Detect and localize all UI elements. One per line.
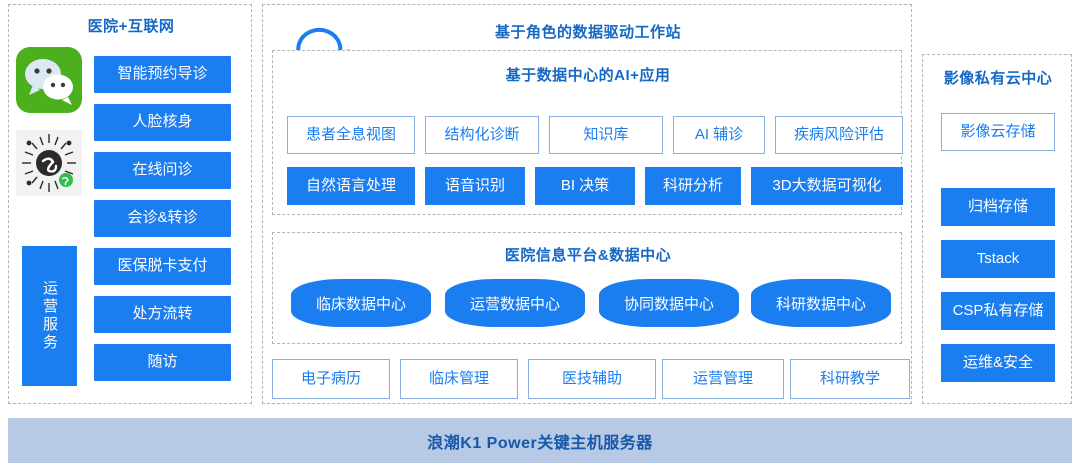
right-chip-csp-private-storage[interactable]: CSP私有存储	[941, 292, 1055, 330]
right-chip-ops-security[interactable]: 运维&安全	[941, 344, 1055, 382]
ai-chip-ai-assisted-diagnosis[interactable]: AI 辅诊	[673, 116, 765, 154]
ai-chip-speech-recognition[interactable]: 语音识别	[425, 167, 525, 205]
ai-chip-patient-holographic-view[interactable]: 患者全息视图	[287, 116, 415, 154]
left-button-follow-up[interactable]: 随访	[94, 344, 231, 381]
system-box-research-education[interactable]: 科研教学	[790, 359, 910, 399]
hospital-info-platform-panel: 医院信息平台&数据中心 临床数据中心 运营数据中心 协同数据中心 科研数据中心	[272, 232, 902, 344]
left-button-online-consultation[interactable]: 在线问诊	[94, 152, 231, 189]
ai-chip-structured-diagnosis[interactable]: 结构化诊断	[425, 116, 539, 154]
hospital-info-platform-title: 医院信息平台&数据中心	[273, 244, 903, 265]
ai-chip-bi-decision[interactable]: BI 决策	[535, 167, 635, 205]
left-button-smart-appointment[interactable]: 智能预约导诊	[94, 56, 231, 93]
imaging-private-cloud-title: 影像私有云中心	[923, 67, 1073, 88]
right-chip-archive-storage[interactable]: 归档存储	[941, 188, 1055, 226]
system-box-emr[interactable]: 电子病历	[272, 359, 390, 399]
server-label: 浪潮K1 Power关键主机服务器	[427, 429, 652, 453]
left-button-insurance-payment[interactable]: 医保脱卡支付	[94, 248, 231, 285]
right-chip-image-cloud-storage[interactable]: 影像云存储	[941, 113, 1055, 151]
ai-chip-research-analysis[interactable]: 科研分析	[645, 167, 741, 205]
hospital-internet-title: 医院+互联网	[9, 15, 253, 36]
ai-application-panel: 基于数据中心的AI+应用 患者全息视图 结构化诊断 知识库 AI 辅诊 疾病风险…	[272, 50, 902, 215]
right-chip-tstack[interactable]: Tstack	[941, 240, 1055, 278]
mini-program-qr-icon	[16, 130, 82, 196]
left-button-referral[interactable]: 会诊&转诊	[94, 200, 231, 237]
data-center-collaboration[interactable]: 协同数据中心	[599, 279, 739, 327]
left-button-face-verification[interactable]: 人脸核身	[94, 104, 231, 141]
system-box-operations-management[interactable]: 运营管理	[662, 359, 784, 399]
ai-chip-nlp[interactable]: 自然语言处理	[287, 167, 415, 205]
ai-chip-3d-big-data-visualization[interactable]: 3D大数据可视化	[751, 167, 903, 205]
system-box-medical-tech-support[interactable]: 医技辅助	[528, 359, 656, 399]
data-center-research[interactable]: 科研数据中心	[751, 279, 891, 327]
imaging-private-cloud-panel: 影像私有云中心 影像云存储 归档存储 Tstack CSP私有存储 运维&安全	[922, 54, 1072, 404]
server-bar: 浪潮K1 Power关键主机服务器	[8, 418, 1072, 463]
ai-chip-disease-risk-assessment[interactable]: 疾病风险评估	[775, 116, 903, 154]
ai-application-title: 基于数据中心的AI+应用	[273, 64, 903, 85]
data-center-operations[interactable]: 运营数据中心	[445, 279, 585, 327]
system-box-clinical-management[interactable]: 临床管理	[400, 359, 518, 399]
architecture-diagram: 医院+互联网	[0, 0, 1080, 469]
left-button-prescription-flow[interactable]: 处方流转	[94, 296, 231, 333]
data-center-clinical[interactable]: 临床数据中心	[291, 279, 431, 327]
wechat-icon	[16, 47, 82, 113]
ops-service-box[interactable]: 运营服务	[22, 246, 77, 386]
ai-chip-knowledge-base[interactable]: 知识库	[549, 116, 663, 154]
